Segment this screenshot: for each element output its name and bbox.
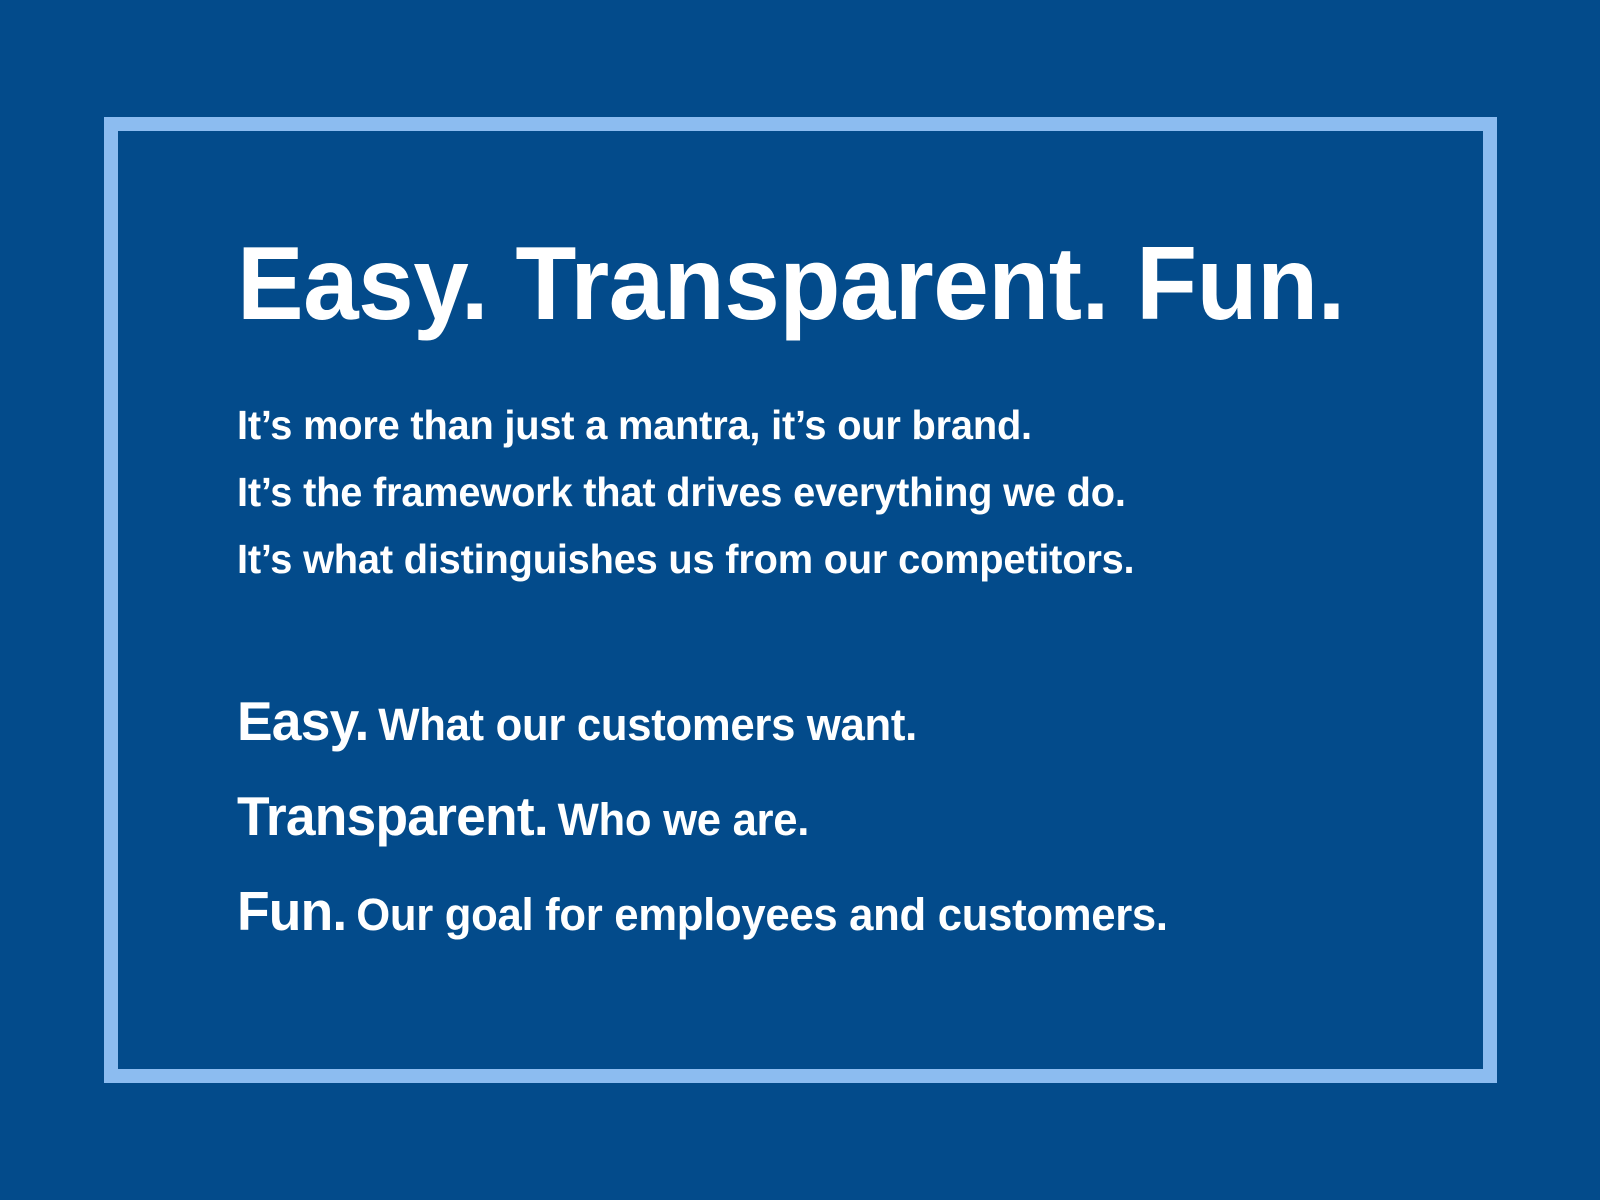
intro-line-1: It’s more than just a mantra, it’s our b… (237, 392, 1382, 459)
pillar-item-easy: Easy.What our customers want. (237, 681, 1382, 776)
slide-content: Easy. Transparent. Fun. It’s more than j… (237, 232, 1417, 966)
slide-headline: Easy. Transparent. Fun. (237, 232, 1370, 336)
pillar-item-transparent: Transparent.Who we are. (237, 776, 1382, 871)
intro-line-2: It’s the framework that drives everythin… (237, 459, 1382, 526)
pillar-description-transparent: Who we are. (558, 794, 809, 845)
intro-line-3: It’s what distinguishes us from our comp… (237, 526, 1382, 593)
pillar-description-fun: Our goal for employees and customers. (356, 889, 1168, 940)
pillar-item-fun: Fun.Our goal for employees and customers… (237, 871, 1382, 966)
pillar-list: Easy.What our customers want. Transparen… (237, 681, 1417, 966)
intro-paragraph: It’s more than just a mantra, it’s our b… (237, 392, 1417, 593)
brand-mantra-slide: Easy. Transparent. Fun. It’s more than j… (0, 0, 1600, 1200)
pillar-lead-easy: Easy. (237, 690, 369, 752)
pillar-description-easy: What our customers want. (378, 699, 917, 750)
pillar-lead-transparent: Transparent. (237, 785, 548, 847)
pillar-lead-fun: Fun. (237, 880, 346, 942)
